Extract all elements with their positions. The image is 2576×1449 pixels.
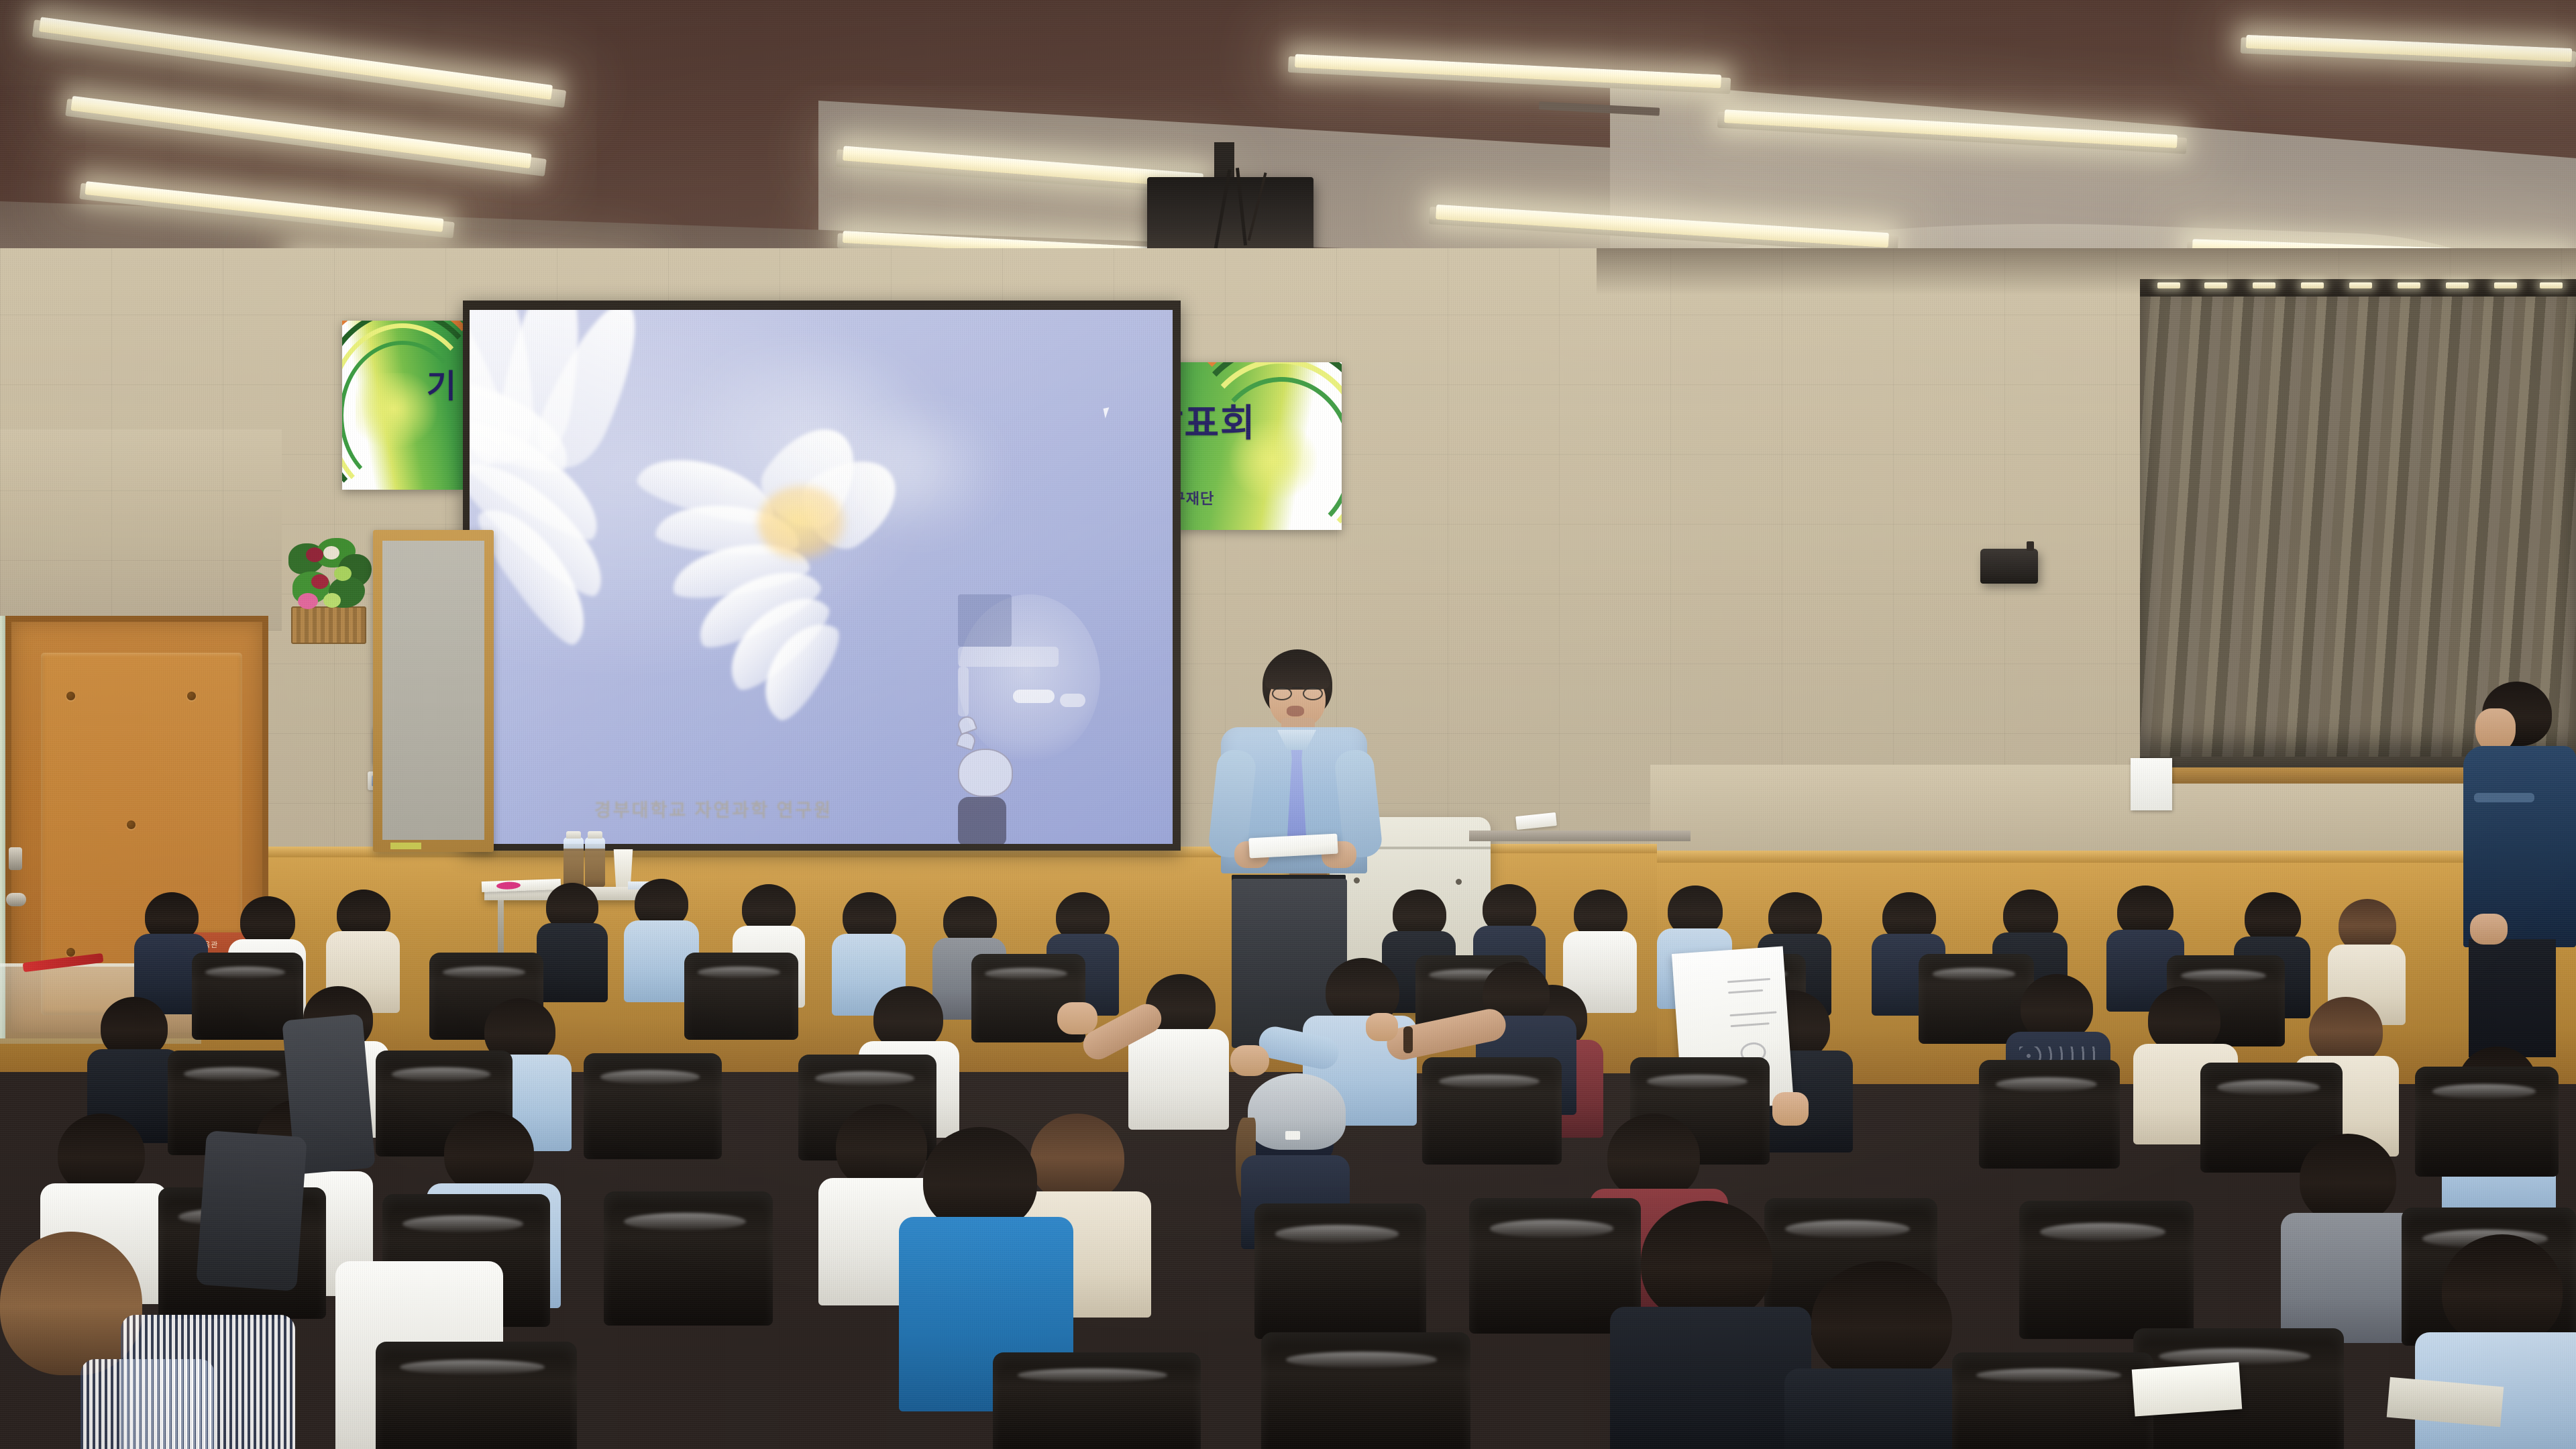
auditorium-seat[interactable]: [1254, 1203, 1426, 1339]
wall-notice-paper: [2131, 758, 2172, 810]
jacket-logo: [2474, 793, 2534, 802]
wall-shelf: [1469, 830, 1690, 841]
auditorium-seat[interactable]: [584, 1053, 722, 1159]
standing-person-trousers: [2469, 939, 2556, 1057]
standing-person-right: [2463, 682, 2576, 1057]
ceiling-projector-body: [1147, 177, 1313, 258]
document-pink-mark: [496, 881, 521, 890]
wall-speaker: [1980, 549, 2038, 584]
door-lock-plate[interactable]: [9, 847, 22, 870]
auditorium-seat[interactable]: [1261, 1332, 1470, 1449]
presenter-mouth: [1287, 706, 1304, 716]
wrist-band: [1403, 1026, 1413, 1053]
raised-hand: [1057, 1002, 1097, 1034]
auditorium-seat[interactable]: [1979, 1060, 2120, 1169]
audience-person: [121, 1315, 295, 1449]
auditorium-seat[interactable]: [2415, 1067, 2559, 1177]
left-banner-partial-text: 기: [427, 360, 458, 407]
auditorium-seat[interactable]: [1422, 1057, 1562, 1165]
auditorium-seat[interactable]: [684, 953, 798, 1040]
left-event-banner: 기: [342, 321, 463, 490]
wall-flower-basket: [287, 537, 371, 644]
door-handle[interactable]: [6, 893, 26, 906]
handout-hand: [1772, 1092, 1809, 1126]
cartoon-student-at-desk: [958, 594, 1100, 762]
document-on-seat: [2132, 1362, 2242, 1417]
standing-person-hand: [2470, 914, 2508, 945]
cap-tag: [1285, 1131, 1300, 1140]
projector-mount-pole: [1214, 142, 1234, 178]
curtain-rail[interactable]: [2140, 279, 2576, 297]
backpack: [196, 1130, 307, 1291]
audience-person: [1610, 1201, 1811, 1449]
glasses-bridge: [1292, 687, 1303, 688]
wall-stone-left-upper: [0, 429, 282, 631]
mouse-cursor-icon: [1104, 407, 1112, 419]
auditorium-seat[interactable]: [993, 1352, 1201, 1449]
wainscot-trim-right: [1650, 851, 2576, 863]
auditorium-photo: 기 발표회 국연구재단: [0, 0, 2576, 1449]
screen-caption: 경부대학교 자연과학 연구원: [594, 796, 833, 822]
water-bottle[interactable]: [585, 837, 605, 887]
wall-whiteboard-panel: [373, 530, 494, 852]
presenter-hair-front: [1265, 660, 1330, 690]
auditorium-seat[interactable]: [604, 1191, 773, 1326]
auditorium-seat[interactable]: [2019, 1201, 2194, 1339]
water-bottle[interactable]: [563, 837, 584, 887]
auditorium-seat[interactable]: [1952, 1352, 2153, 1449]
glasses-icon: [1272, 687, 1292, 700]
glasses-icon: [1303, 687, 1323, 700]
projection-screen[interactable]: 경부대학교 자연과학 연구원: [470, 310, 1173, 844]
audience-person: [537, 883, 608, 997]
auditorium-seat[interactable]: [376, 1342, 577, 1449]
